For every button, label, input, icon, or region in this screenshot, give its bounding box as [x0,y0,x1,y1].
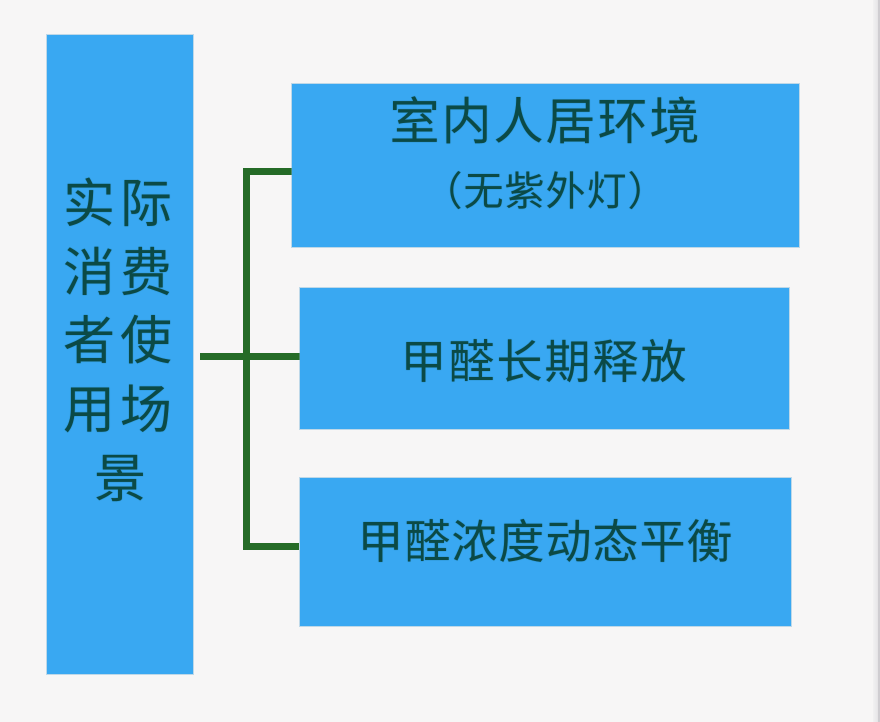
connector-branch-bottom [243,543,299,550]
node-root-line-4: 用场 [63,377,177,446]
node-formaldehyde-dynamic-balance[interactable]: 甲醛浓度动态平衡 [300,478,791,626]
node-indoor-environment[interactable]: 室内人居环境 （无紫外灯） [292,84,799,247]
node-root-line-3: 者使 [63,308,177,377]
node-indoor-environment-title: 室内人居环境 [390,94,702,150]
connector-branch-top [243,168,299,175]
diagram-canvas: 实际 消费 者使 用场 景 室内人居环境 （无紫外灯） 甲醛长期释放 甲醛浓度动… [0,0,880,722]
node-root-line-2: 消费 [63,240,177,309]
node-root-consumer-usage-scenario[interactable]: 实际 消费 者使 用场 景 [47,35,193,674]
connector-branch-middle [200,353,300,360]
node-root-line-1: 实际 [63,171,177,240]
node-root-line-5: 景 [94,446,146,515]
node-indoor-environment-subtitle: （无紫外灯） [423,170,669,214]
node-formaldehyde-long-term-release-title: 甲醛长期释放 [401,326,689,392]
node-formaldehyde-long-term-release[interactable]: 甲醛长期释放 [300,288,789,429]
node-formaldehyde-dynamic-balance-title: 甲醛浓度动态平衡 [358,506,734,572]
